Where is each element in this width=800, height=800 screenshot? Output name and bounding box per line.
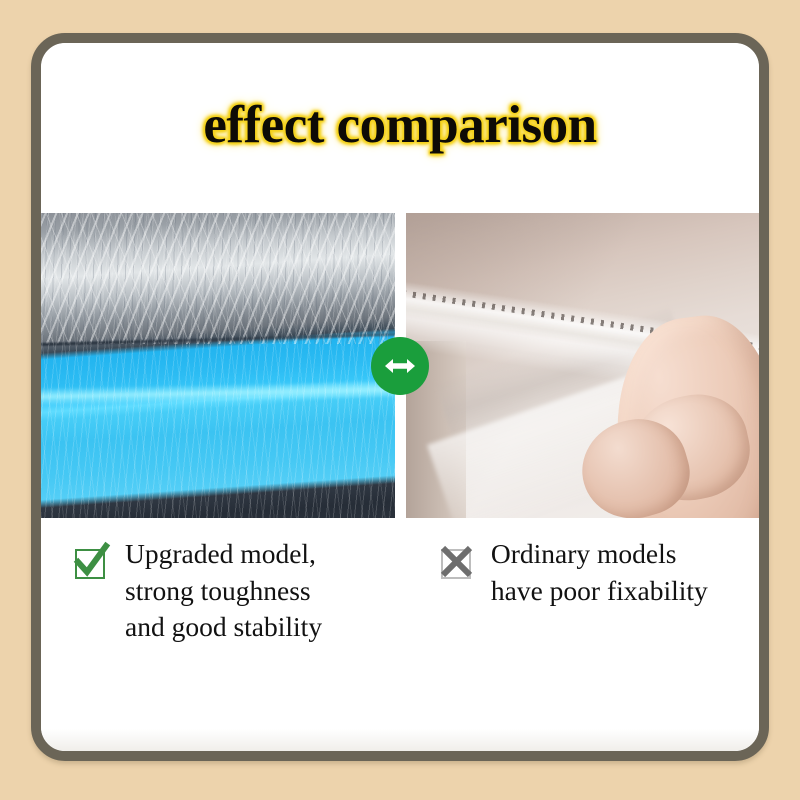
caption-ordinary-text: Ordinary models have poor fixability bbox=[491, 536, 708, 609]
cross-box-icon bbox=[439, 544, 477, 582]
left-right-arrow-icon bbox=[371, 337, 429, 395]
card-inner-surface: effect comparison bbox=[41, 43, 759, 751]
check-box-icon bbox=[73, 544, 111, 582]
caption-upgraded: Upgraded model, strong toughness and goo… bbox=[73, 536, 439, 646]
poster-page: effect comparison bbox=[0, 0, 800, 800]
card-bottom-shadow bbox=[41, 729, 759, 751]
title-row: effect comparison bbox=[41, 99, 759, 152]
caption-row: Upgraded model, strong toughness and goo… bbox=[41, 536, 759, 646]
photo-ordinary-film bbox=[406, 213, 760, 518]
photo-upgraded-film bbox=[41, 213, 395, 518]
film-grain-texture bbox=[41, 213, 395, 518]
page-title: effect comparison bbox=[203, 99, 596, 152]
caption-ordinary: Ordinary models have poor fixability bbox=[439, 536, 747, 646]
comparison-card: effect comparison bbox=[31, 33, 769, 761]
comparison-photo-strip bbox=[41, 213, 759, 518]
caption-upgraded-text: Upgraded model, strong toughness and goo… bbox=[125, 536, 322, 646]
